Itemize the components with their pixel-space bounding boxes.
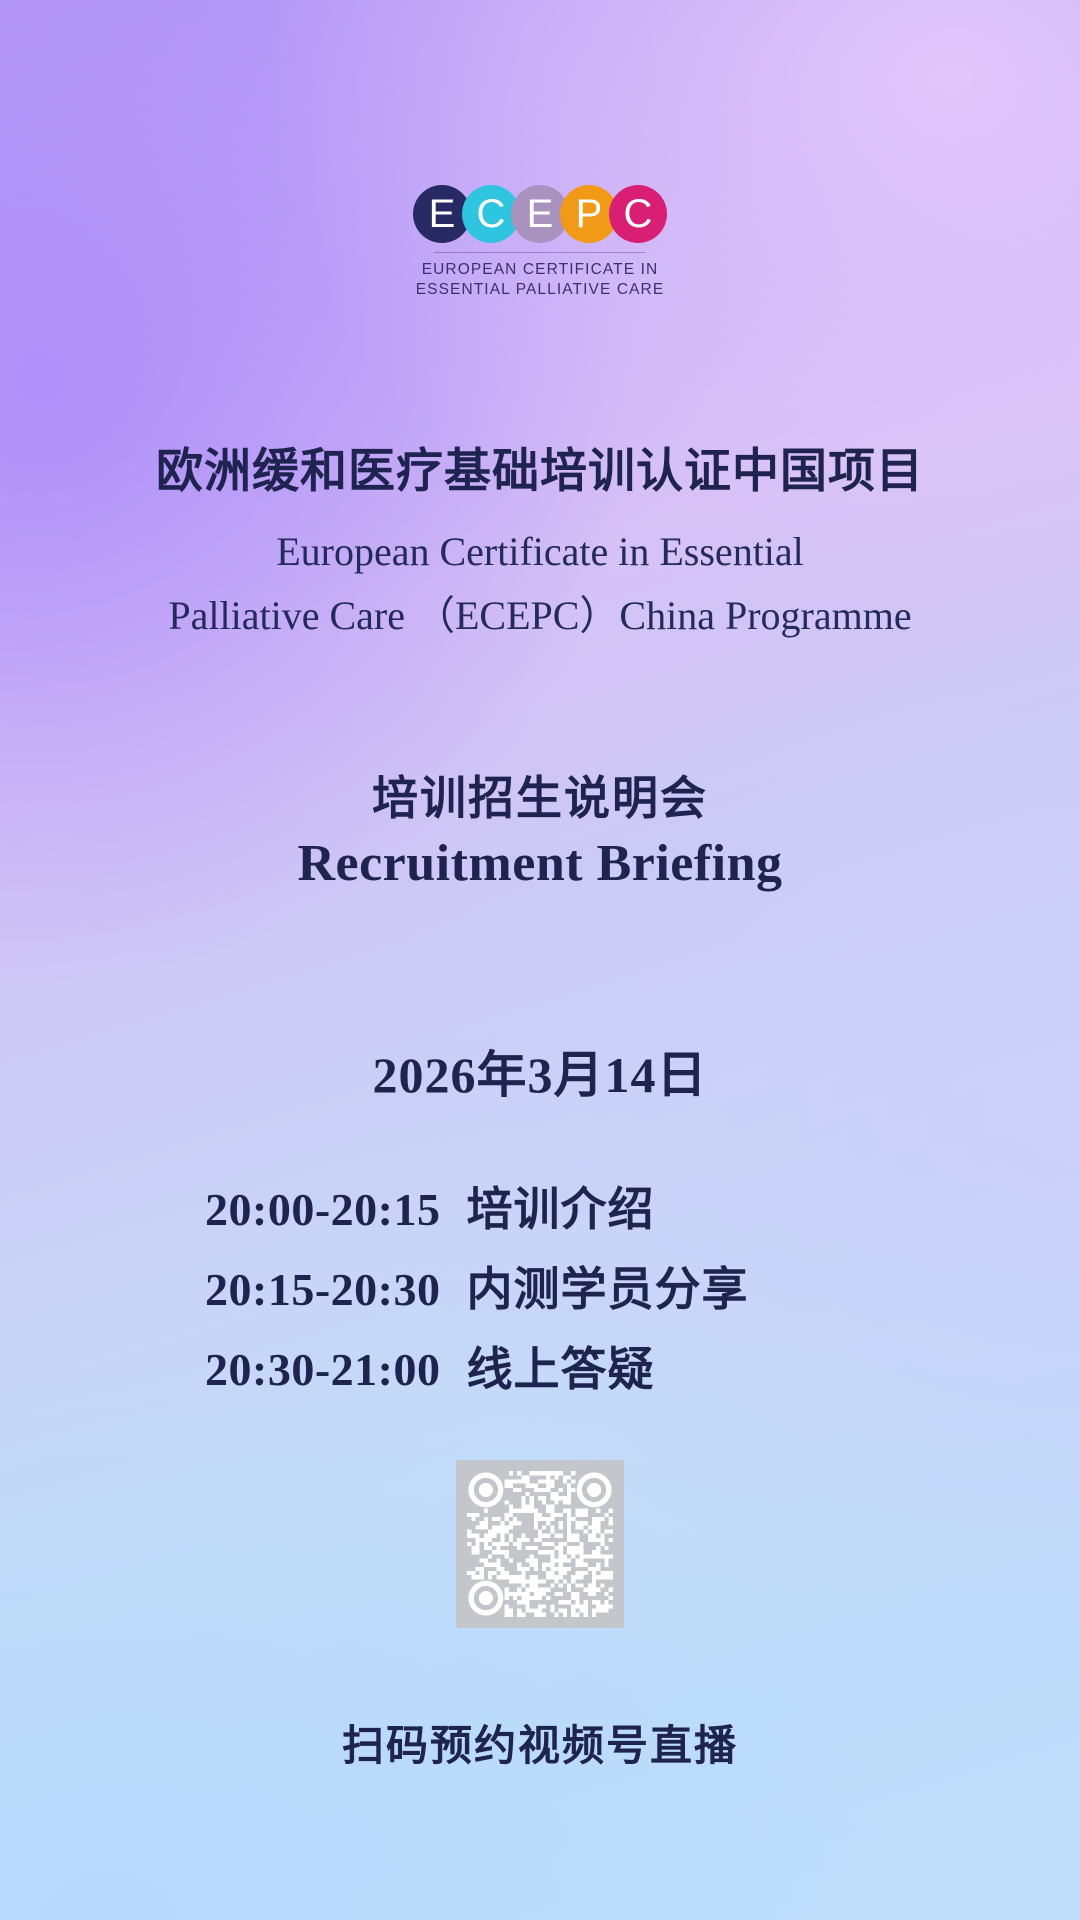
page-title-en-line2: Palliative Care （ECEPC）China Programme (0, 584, 1080, 648)
schedule-time: 20:15-20:30 (205, 1263, 440, 1316)
schedule-time: 20:30-21:00 (205, 1343, 440, 1396)
schedule-time: 20:00-20:15 (205, 1183, 440, 1236)
logo-subtitle-line2: ESSENTIAL PALLIATIVE CARE (416, 280, 665, 300)
poster-root: E C E P C EUROPEAN CERTIFICATE IN ESSENT… (0, 0, 1080, 1920)
event-name-en: Recruitment Briefing (0, 834, 1080, 893)
event-date: 2026年3月14日 (0, 1035, 1080, 1107)
logo-letter: E (429, 194, 456, 234)
page-title-en-line1: European Certificate in Essential (0, 520, 1080, 584)
logo-divider (434, 252, 646, 253)
qr-code-container[interactable] (456, 1460, 624, 1628)
page-title-en: European Certificate in Essential Pallia… (0, 520, 1080, 648)
schedule-list: 20:00-20:15 培训介绍 20:15-20:30 内测学员分享 20:3… (205, 1173, 748, 1399)
logo-letter: C (477, 194, 506, 234)
logo-letter: C (624, 194, 653, 234)
logo-letter: P (576, 194, 603, 234)
schedule-label: 线上答疑 (466, 1333, 654, 1399)
qr-caption: 扫码预约视频号直播 (0, 1712, 1080, 1773)
page-title-cn: 欧洲缓和医疗基础培训认证中国项目 (0, 432, 1080, 501)
schedule-label: 内测学员分享 (466, 1253, 748, 1319)
logo-subtitle-line1: EUROPEAN CERTIFICATE IN (416, 260, 665, 280)
logo-circles: E C E P C (413, 185, 667, 243)
qr-code-svg (463, 1467, 617, 1621)
event-name-cn: 培训招生说明会 (0, 762, 1080, 828)
schedule-row: 20:00-20:15 培训介绍 (205, 1173, 748, 1239)
schedule-row: 20:30-21:00 线上答疑 (205, 1333, 748, 1399)
logo-letter: E (527, 194, 554, 234)
qr-code-icon[interactable] (463, 1467, 617, 1621)
schedule-label: 培训介绍 (466, 1173, 654, 1239)
schedule-row: 20:15-20:30 内测学员分享 (205, 1253, 748, 1319)
logo-circle-c2: C (609, 185, 667, 243)
logo-subtitle: EUROPEAN CERTIFICATE IN ESSENTIAL PALLIA… (416, 260, 665, 300)
ecepc-logo: E C E P C EUROPEAN CERTIFICATE IN ESSENT… (0, 185, 1080, 300)
